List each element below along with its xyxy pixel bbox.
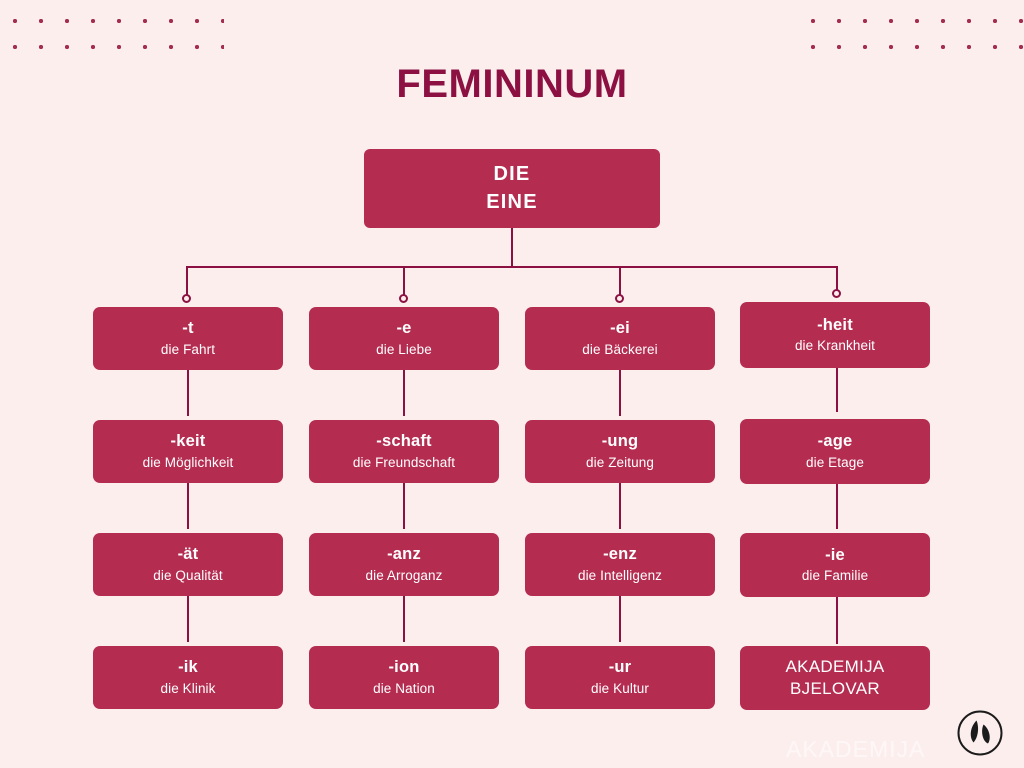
connector-col-4-row-3-4 — [836, 597, 838, 644]
node-example: die Krankheit — [795, 338, 875, 354]
connector-drop-col-4 — [836, 266, 838, 290]
connector-col-2-row-2-3 — [403, 483, 405, 529]
node-example: die Etage — [806, 455, 864, 471]
node-example: die Bäckerei — [582, 342, 658, 358]
connector-bus-bar — [187, 266, 837, 268]
node-suffix: -heit — [817, 316, 853, 335]
watermark-text: AKADEMIJA — [786, 736, 925, 763]
node-example: die Nation — [373, 681, 435, 697]
connector-col-4-row-2-3 — [836, 484, 838, 529]
node-example: die Zeitung — [586, 455, 654, 471]
node-suffix: -ät — [178, 545, 199, 564]
connector-drop-col-3 — [619, 266, 621, 295]
connector-terminal-col-1-icon — [182, 294, 191, 303]
node-example: die Familie — [802, 568, 868, 584]
connector-terminal-col-3-icon — [615, 294, 624, 303]
node-suffix: -ie — [825, 546, 845, 565]
node-suffix: -schaft — [376, 432, 432, 451]
akademija-petal-logo-icon — [956, 709, 1004, 757]
brand-line-2: BJELOVAR — [790, 678, 880, 700]
connector-col-1-row-3-4 — [187, 596, 189, 642]
page-title: FEMININUM — [0, 62, 1024, 107]
node-col-2-row-2: -schaft die Freundschaft — [309, 420, 499, 483]
node-suffix: -e — [396, 319, 411, 338]
node-col-3-row-4: -ur die Kultur — [525, 646, 715, 709]
connector-terminal-col-4-icon — [832, 289, 841, 298]
node-col-2-row-4: -ion die Nation — [309, 646, 499, 709]
connector-col-4-row-1-2 — [836, 368, 838, 412]
root-node-die-eine: DIE EINE — [364, 149, 660, 228]
connector-col-3-row-2-3 — [619, 483, 621, 529]
node-suffix: -ei — [610, 319, 630, 338]
node-suffix: -enz — [603, 545, 637, 564]
node-suffix: -ur — [609, 658, 632, 677]
root-line-2: EINE — [486, 189, 537, 217]
node-example: die Kultur — [591, 681, 649, 697]
node-example: die Fahrt — [161, 342, 215, 358]
connector-col-1-row-2-3 — [187, 483, 189, 529]
node-example: die Möglichkeit — [143, 455, 234, 471]
node-suffix: -ik — [178, 658, 198, 677]
node-example: die Freundschaft — [353, 455, 455, 471]
connector-col-2-row-3-4 — [403, 596, 405, 642]
node-col-3-row-3: -enz die Intelligenz — [525, 533, 715, 596]
connector-col-3-row-1-2 — [619, 370, 621, 416]
node-suffix: -age — [818, 432, 853, 451]
node-col-4-row-3: -ie die Familie — [740, 533, 930, 597]
connector-col-1-row-1-2 — [187, 370, 189, 416]
node-example: die Arroganz — [366, 568, 443, 584]
node-col-4-row-4-brand: AKADEMIJA BJELOVAR — [740, 646, 930, 710]
node-col-1-row-2: -keit die Möglichkeit — [93, 420, 283, 483]
node-suffix: -keit — [171, 432, 206, 451]
node-col-1-row-3: -ät die Qualität — [93, 533, 283, 596]
connector-drop-col-2 — [403, 266, 405, 295]
node-example: die Intelligenz — [578, 568, 662, 584]
node-example: die Qualität — [153, 568, 223, 584]
node-col-4-row-2: -age die Etage — [740, 419, 930, 484]
node-col-2-row-1: -e die Liebe — [309, 307, 499, 370]
node-suffix: -ion — [388, 658, 419, 677]
node-col-1-row-4: -ik die Klinik — [93, 646, 283, 709]
node-suffix: -anz — [387, 545, 421, 564]
node-suffix: -t — [182, 319, 193, 338]
dot-pattern-right-icon — [794, 0, 1024, 62]
brand-line-1: AKADEMIJA — [785, 656, 884, 678]
dot-pattern-left-icon — [0, 0, 224, 62]
root-line-1: DIE — [494, 161, 531, 189]
node-example: die Klinik — [160, 681, 215, 697]
node-suffix: -ung — [602, 432, 639, 451]
connector-terminal-col-2-icon — [399, 294, 408, 303]
node-col-3-row-2: -ung die Zeitung — [525, 420, 715, 483]
connector-drop-col-1 — [186, 266, 188, 295]
connector-col-2-row-1-2 — [403, 370, 405, 416]
node-col-1-row-1: -t die Fahrt — [93, 307, 283, 370]
node-col-4-row-1: -heit die Krankheit — [740, 302, 930, 368]
connector-root-stem — [511, 228, 513, 267]
node-col-3-row-1: -ei die Bäckerei — [525, 307, 715, 370]
infographic-canvas: FEMININUM DIE EINE -t die Fahrt -keit di… — [0, 0, 1024, 768]
connector-col-3-row-3-4 — [619, 596, 621, 642]
node-col-2-row-3: -anz die Arroganz — [309, 533, 499, 596]
node-example: die Liebe — [376, 342, 432, 358]
